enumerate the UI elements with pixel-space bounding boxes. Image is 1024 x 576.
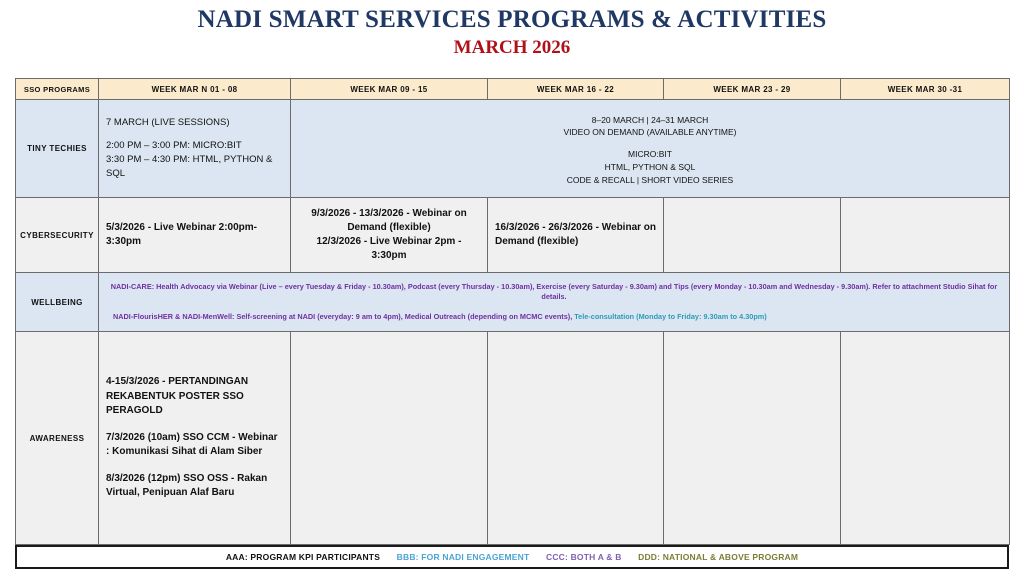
cell-tiny-techies-week-1: 7 MARCH (LIVE SESSIONS) 2:00 PM – 3:00 P… [99, 100, 291, 198]
schedule-table: SSO PROGRAMS WEEK MAR N 01 - 08 WEEK MAR… [15, 78, 1010, 545]
cybersecurity-week-3-text: 16/3/2026 - 26/3/2026 - Webinar on Deman… [488, 215, 663, 255]
page-title: NADI SMART SERVICES PROGRAMS & ACTIVITIE… [0, 6, 1024, 35]
cybersecurity-week-1-text: 5/3/2026 - Live Webinar 2:00pm-3:30pm [99, 215, 290, 255]
awareness-week-5-text [841, 432, 1009, 444]
awareness-item-3: 8/3/2026 (12pm) SSO OSS - Rakan Virtual,… [106, 472, 283, 501]
cell-cybersecurity-week-3: 16/3/2026 - 26/3/2026 - Webinar on Deman… [488, 198, 664, 273]
tiny-techies-merged-line-2: VIDEO ON DEMAND (AVAILABLE ANYTIME) [298, 126, 1002, 139]
tiny-techies-line-1: 7 MARCH (LIVE SESSIONS) [106, 116, 283, 130]
cell-cybersecurity-week-4 [664, 198, 841, 273]
wellbeing-line-2: NADI-FlourisHER & NADI-MenWell: Self-scr… [99, 312, 1009, 323]
cell-awareness-week-5 [841, 332, 1010, 545]
awareness-item-2: 7/3/2026 (10am) SSO CCM - Webinar : Komu… [106, 431, 283, 460]
spacer [106, 130, 283, 139]
table-row-cybersecurity: CYBERSECURITY 5/3/2026 - Live Webinar 2:… [16, 198, 1010, 273]
cell-cybersecurity-week-1: 5/3/2026 - Live Webinar 2:00pm-3:30pm [99, 198, 291, 273]
cell-awareness-week-3 [488, 332, 664, 545]
awareness-week-4-text [664, 432, 840, 444]
table-header-row: SSO PROGRAMS WEEK MAR N 01 - 08 WEEK MAR… [16, 79, 1010, 100]
table-row-awareness: AWARENESS 4-15/3/2026 - PERTANDINGAN REK… [16, 332, 1010, 545]
tiny-techies-merged-line-3: MICRO:BIT [298, 148, 1002, 161]
tiny-techies-merged-line-4: HTML, PYTHON & SQL [298, 161, 1002, 174]
cell-awareness-week-2 [291, 332, 488, 545]
legend-item-aaa: AAA: PROGRAM KPI PARTICIPANTS [226, 552, 380, 562]
awareness-item-1: 4-15/3/2026 - PERTANDINGAN REKABENTUK PO… [106, 375, 283, 419]
column-header-week-3: WEEK MAR 16 - 22 [488, 79, 664, 100]
cybersecurity-week-4-text [664, 229, 840, 241]
cybersecurity-week-2-line-2: 12/3/2026 - Live Webinar 2pm - 3:30pm [298, 235, 480, 263]
column-header-week-1: WEEK MAR N 01 - 08 [99, 79, 291, 100]
tiny-techies-line-2: 2:00 PM – 3:00 PM: MICRO:BIT [106, 139, 283, 153]
column-header-week-5: WEEK MAR 30 -31 [841, 79, 1010, 100]
legend-items: AAA: PROGRAM KPI PARTICIPANTS BBB: FOR N… [226, 552, 798, 562]
awareness-week-2-text [291, 432, 487, 444]
column-header-sso-programs: SSO PROGRAMS [16, 79, 99, 100]
cell-awareness-week-1: 4-15/3/2026 - PERTANDINGAN REKABENTUK PO… [99, 332, 291, 545]
legend-item-ccc: CCC: BOTH A & B [546, 552, 622, 562]
wellbeing-line-1: NADI-CARE: Health Advocacy via Webinar (… [99, 282, 1009, 303]
column-header-week-2: WEEK MAR 09 - 15 [291, 79, 488, 100]
tiny-techies-merged-line-5: CODE & RECALL | SHORT VIDEO SERIES [298, 174, 1002, 187]
page-subtitle: MARCH 2026 [0, 37, 1024, 60]
program-label-awareness: AWARENESS [16, 332, 99, 545]
cybersecurity-week-5-text [841, 229, 1009, 241]
column-header-week-4: WEEK MAR 23 - 29 [664, 79, 841, 100]
cybersecurity-week-2-line-1: 9/3/2026 - 13/3/2026 - Webinar on Demand… [298, 207, 480, 235]
table-row-tiny-techies: TINY TECHIES 7 MARCH (LIVE SESSIONS) 2:0… [16, 100, 1010, 198]
cell-cybersecurity-week-5 [841, 198, 1010, 273]
table-row-wellbeing: WELLBEING NADI-CARE: Health Advocacy via… [16, 273, 1010, 332]
awareness-week-3-text [488, 432, 663, 444]
wellbeing-line-2-teal-part: Tele-consultation (Monday to Friday: 9.3… [574, 312, 766, 321]
program-label-wellbeing: WELLBEING [16, 273, 99, 332]
wellbeing-line-2-purple-part: NADI-FlourisHER & NADI-MenWell: Self-scr… [113, 312, 572, 321]
cell-tiny-techies-merged-weeks: 8–20 MARCH | 24–31 MARCH VIDEO ON DEMAND… [291, 100, 1010, 198]
legend-item-ddd: DDD: NATIONAL & ABOVE PROGRAM [638, 552, 798, 562]
spacer [298, 139, 1002, 148]
cell-wellbeing-merged-weeks: NADI-CARE: Health Advocacy via Webinar (… [99, 273, 1010, 332]
cell-awareness-week-4 [664, 332, 841, 545]
program-label-cybersecurity: CYBERSECURITY [16, 198, 99, 273]
cell-cybersecurity-week-2: 9/3/2026 - 13/3/2026 - Webinar on Demand… [291, 198, 488, 273]
legend-item-bbb: BBB: FOR NADI ENGAGEMENT [397, 552, 530, 562]
legend-box: AAA: PROGRAM KPI PARTICIPANTS BBB: FOR N… [15, 545, 1009, 569]
page-header: NADI SMART SERVICES PROGRAMS & ACTIVITIE… [0, 0, 1024, 60]
tiny-techies-line-3: 3:30 PM – 4:30 PM: HTML, PYTHON & SQL [106, 153, 283, 181]
schedule-table-wrapper: SSO PROGRAMS WEEK MAR N 01 - 08 WEEK MAR… [15, 78, 1009, 545]
program-label-tiny-techies: TINY TECHIES [16, 100, 99, 198]
tiny-techies-merged-line-1: 8–20 MARCH | 24–31 MARCH [298, 114, 1002, 127]
